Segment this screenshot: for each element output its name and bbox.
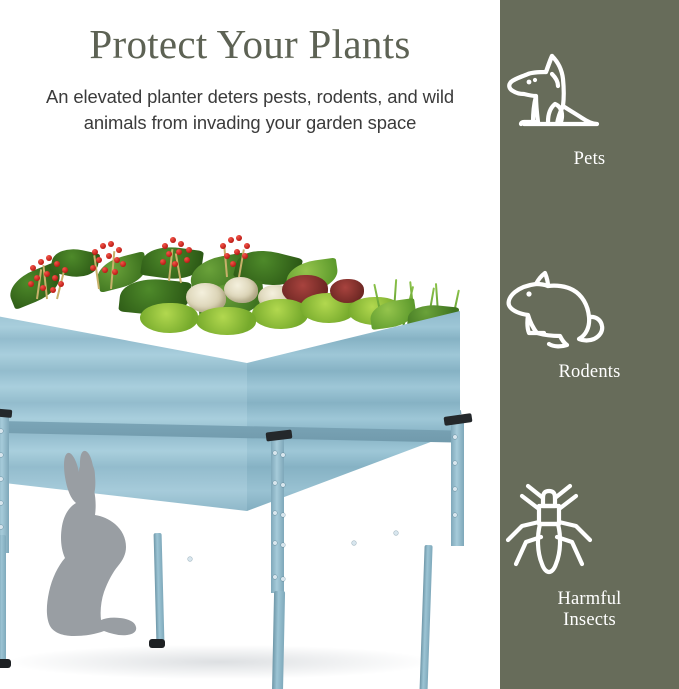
leg bbox=[154, 533, 165, 643]
page-title: Protect Your Plants bbox=[0, 22, 500, 68]
feature-label-line1: Harmful bbox=[500, 589, 679, 610]
rivet bbox=[281, 543, 285, 547]
rivet bbox=[281, 513, 285, 517]
left-content-pane: Protect Your Plants An elevated planter … bbox=[0, 0, 500, 689]
leg bbox=[0, 535, 6, 663]
rivet bbox=[273, 481, 277, 485]
feature-label: Pets bbox=[500, 149, 679, 170]
rivet bbox=[453, 513, 457, 517]
feature-side-panel: Pets Rodents bbox=[500, 0, 679, 689]
feature-rodents: Rodents bbox=[500, 265, 679, 383]
rivet bbox=[453, 461, 457, 465]
rivet bbox=[453, 487, 457, 491]
leg-foot bbox=[0, 659, 11, 668]
rivet bbox=[273, 511, 277, 515]
feature-insects: Harmful Insects bbox=[500, 480, 679, 632]
feature-label: Rodents bbox=[500, 362, 679, 383]
rivet bbox=[273, 575, 277, 579]
page-subtitle: An elevated planter deters pests, rodent… bbox=[38, 84, 462, 136]
green-lettuce bbox=[252, 299, 308, 329]
rabbit-silhouette bbox=[38, 450, 152, 645]
corner-cap bbox=[0, 408, 12, 418]
green-lettuce bbox=[196, 307, 256, 335]
rivet bbox=[281, 453, 285, 457]
rivet bbox=[273, 451, 277, 455]
product-infographic: Protect Your Plants An elevated planter … bbox=[0, 0, 679, 689]
rivet bbox=[188, 557, 192, 561]
rivet bbox=[352, 541, 356, 545]
green-lettuce bbox=[140, 303, 198, 333]
dog-icon bbox=[500, 48, 679, 140]
feature-pets: Pets bbox=[500, 48, 679, 170]
feature-label-line2: Insects bbox=[500, 610, 679, 631]
rivet bbox=[453, 435, 457, 439]
rivet bbox=[281, 483, 285, 487]
ground-shadow bbox=[10, 645, 430, 679]
rodent-icon bbox=[500, 265, 679, 353]
rivet bbox=[273, 541, 277, 545]
insect-icon bbox=[500, 480, 679, 580]
rivet bbox=[281, 577, 285, 581]
leg bbox=[419, 545, 432, 689]
corner-post bbox=[451, 420, 464, 546]
rivet bbox=[394, 531, 398, 535]
leg bbox=[270, 591, 285, 689]
corner-post bbox=[0, 415, 9, 553]
cauliflower bbox=[224, 277, 258, 303]
